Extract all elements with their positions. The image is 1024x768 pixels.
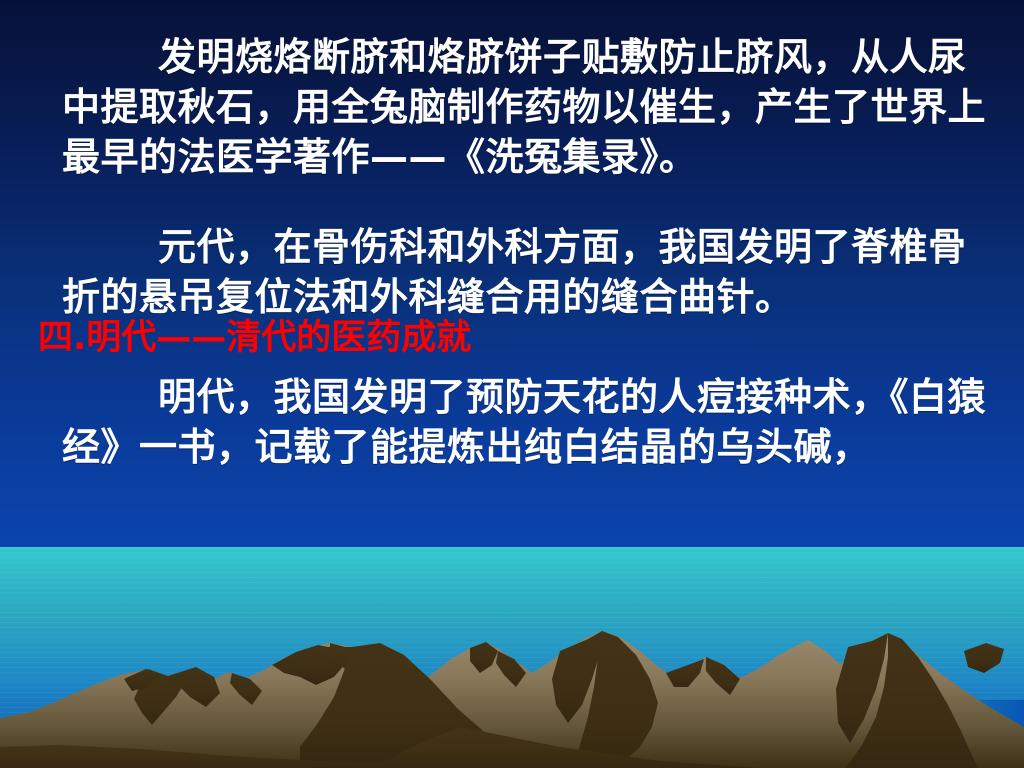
- slide-text-layer: 发明烧烙断脐和烙脐饼子贴敷防止脐风，从人尿中提取秋石，用全兔脑制作药物以催生，产…: [0, 0, 1024, 547]
- body-paragraph-3: 明代，我国发明了预防天花的人痘接种术，《白猿经》一书，记载了能提炼出纯白结晶的乌…: [62, 372, 992, 472]
- slide-canvas: 发明烧烙断脐和烙脐饼子贴敷防止脐风，从人尿中提取秋石，用全兔脑制作药物以催生，产…: [0, 0, 1024, 768]
- section-heading-red: 四.明代——清代的医药成就: [38, 318, 471, 358]
- body-paragraph-2: 元代，在骨伤科和外科方面，我国发明了脊椎骨折的悬吊复位法和外科缝合用的缝合曲针。: [62, 222, 992, 322]
- body-paragraph-1: 发明烧烙断脐和烙脐饼子贴敷防止脐风，从人尿中提取秋石，用全兔脑制作药物以催生，产…: [62, 32, 992, 182]
- mountain-range-silhouette: [0, 547, 1024, 768]
